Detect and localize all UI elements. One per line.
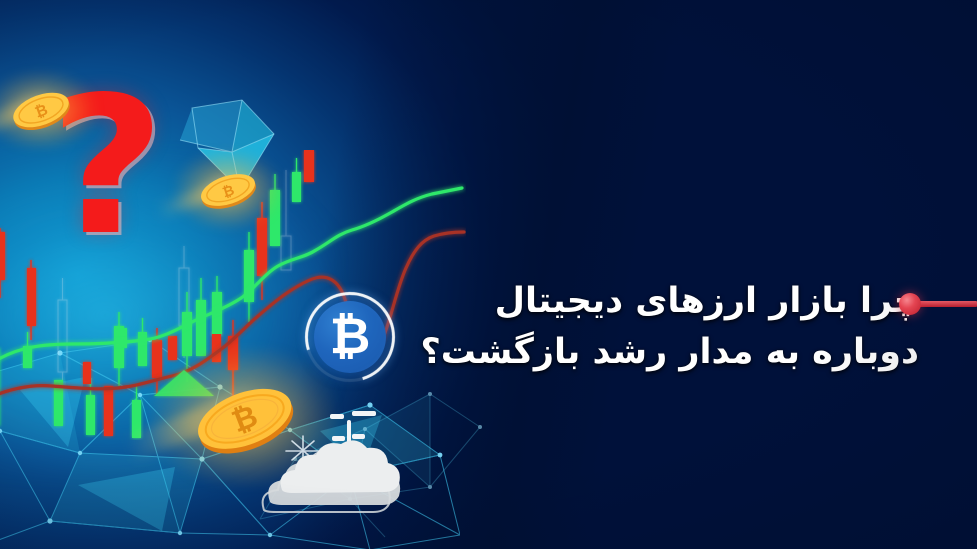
crypto-news-banner: ? ₿ ₿ — [0, 0, 977, 549]
vignette-overlay — [0, 0, 977, 549]
